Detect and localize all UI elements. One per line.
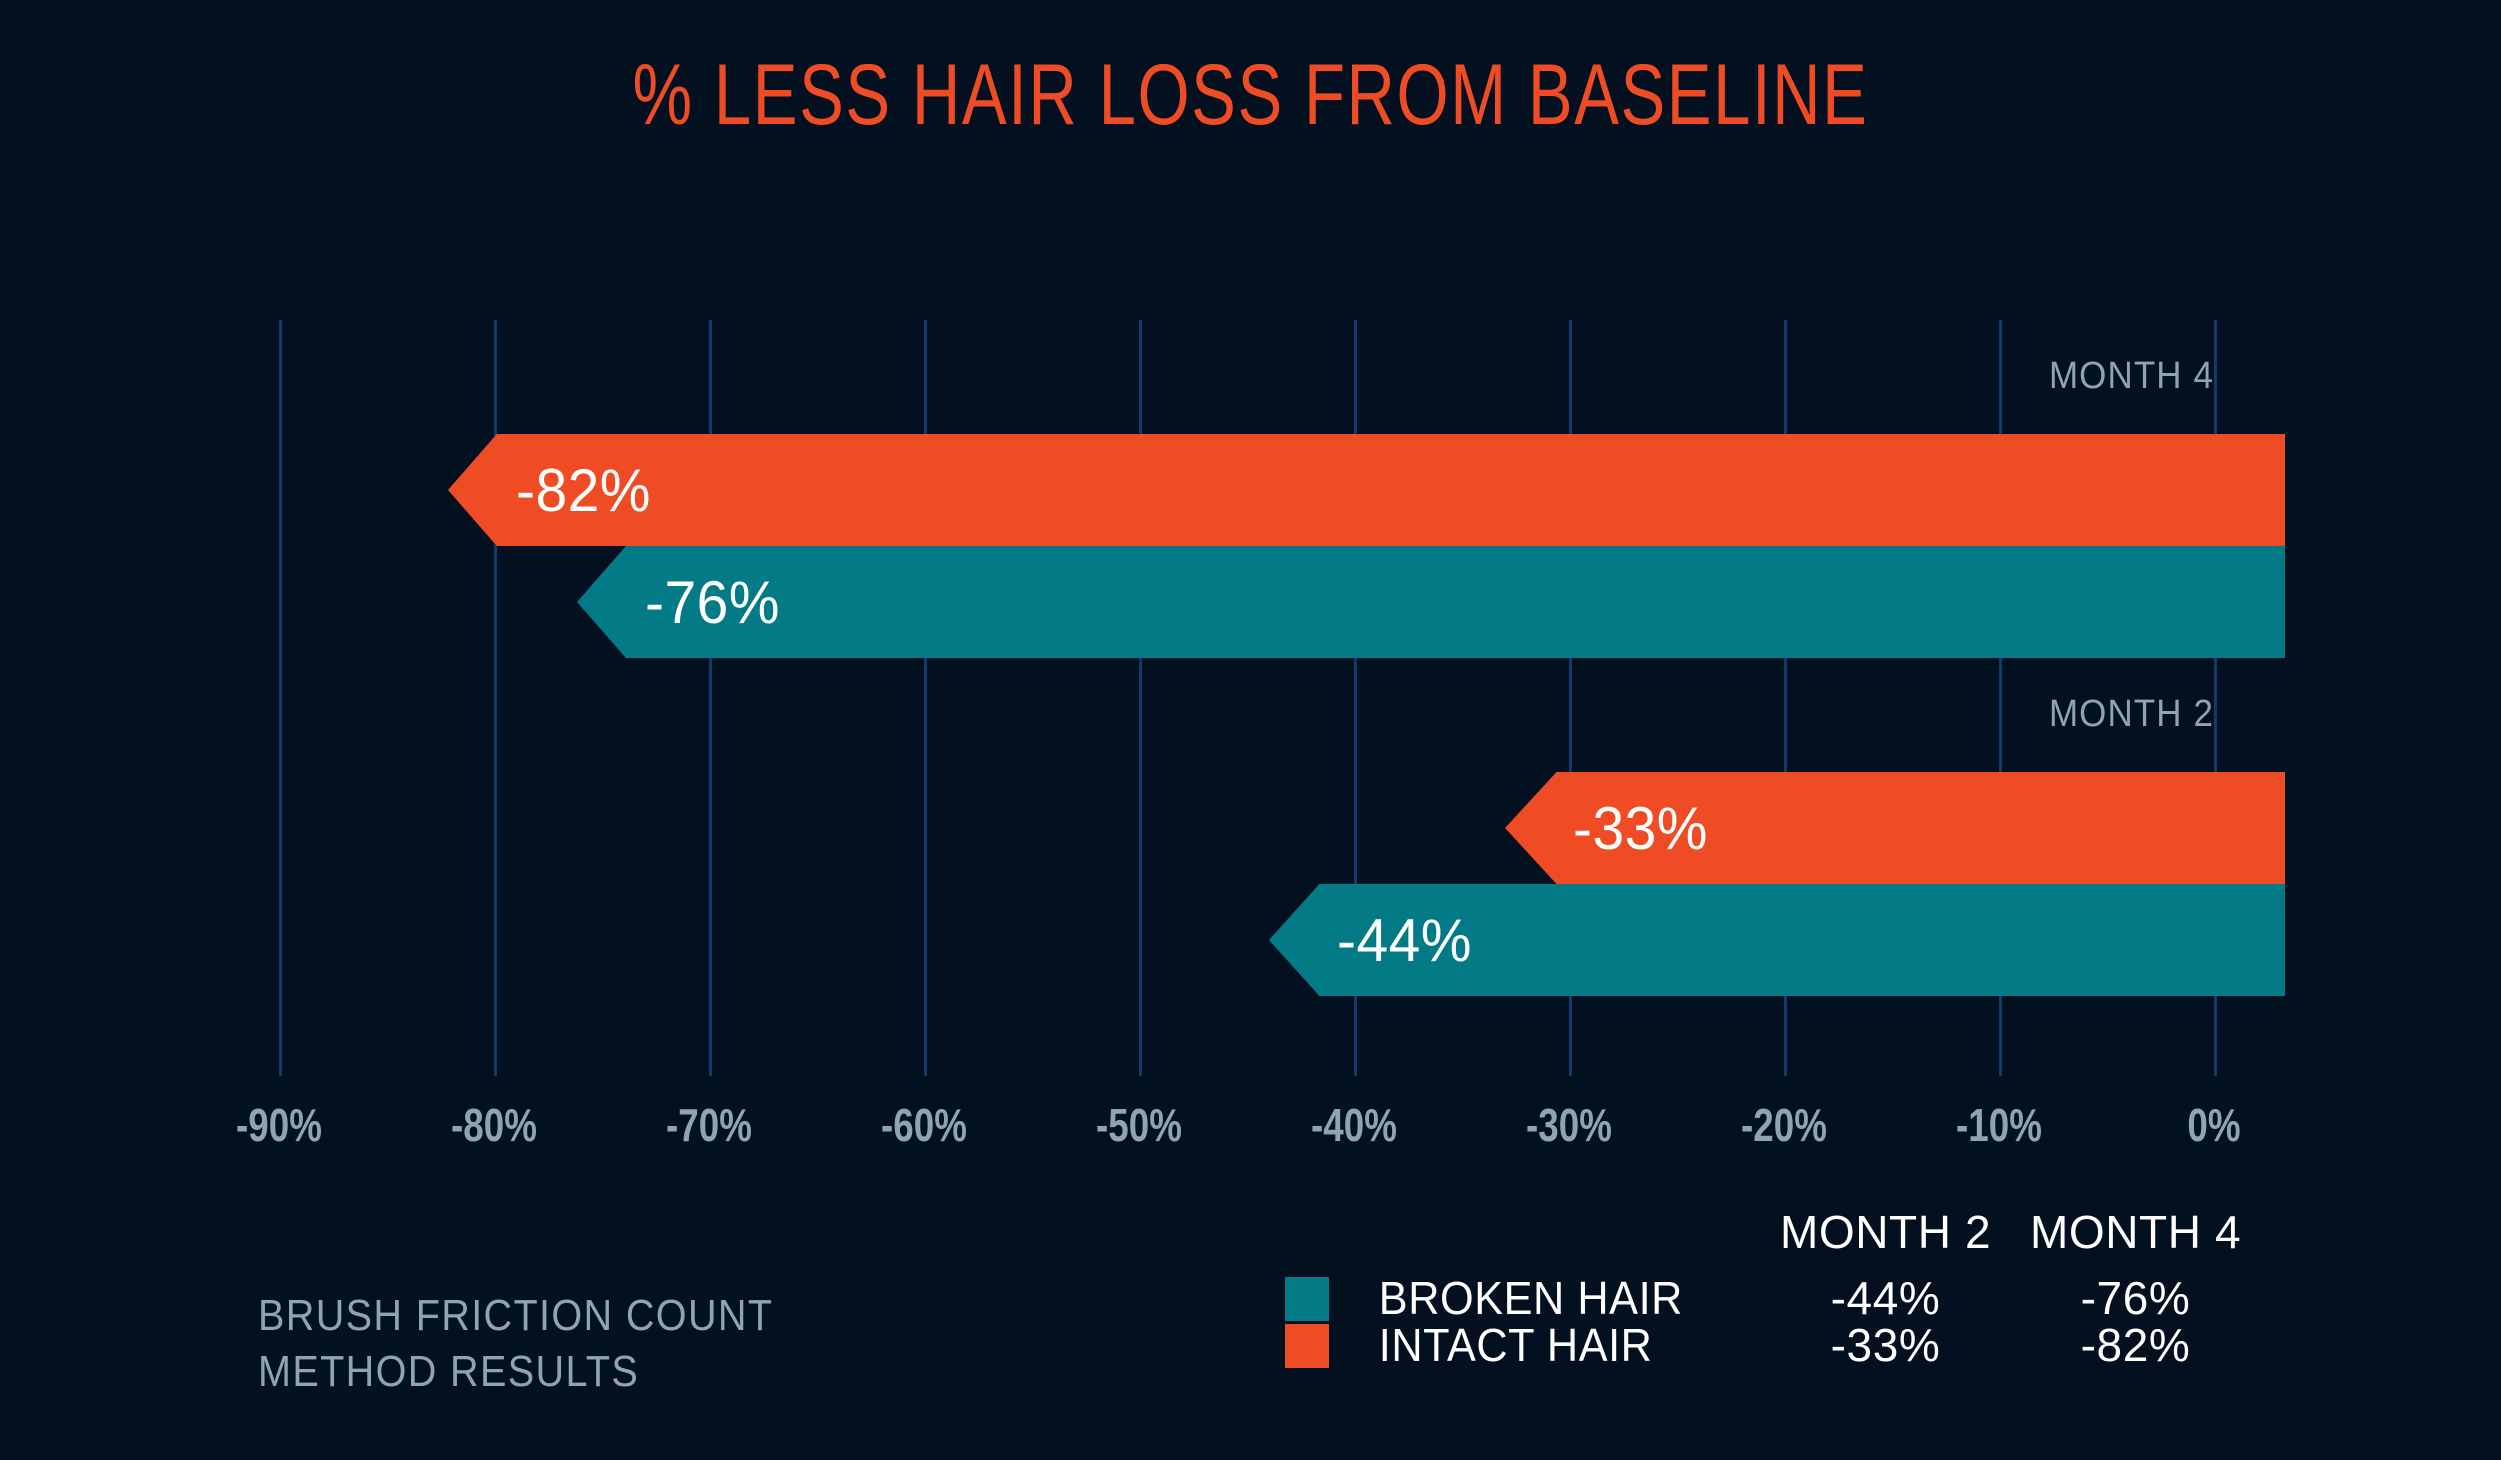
legend: MONTH 2 MONTH 4 BROKEN HAIR -44% -76% <box>1285 1205 2261 1370</box>
bar-value-label: -76% <box>645 568 780 637</box>
axis-tick-minus70: -70% <box>613 1098 805 1152</box>
legend-header-row: MONTH 2 MONTH 4 <box>1285 1205 2261 1275</box>
legend-value-broken-hair-month2: -44% <box>1761 1275 2011 1322</box>
chart-canvas: % LESS HAIR LOSS FROM BASELINE MONTH 4 -… <box>0 0 2501 1460</box>
axis-tick-minus20: -20% <box>1688 1098 1880 1152</box>
axis-tick-minus90: -90% <box>183 1098 375 1152</box>
legend-header-month4: MONTH 4 <box>2011 1205 2261 1275</box>
axis-tick-minus80: -80% <box>398 1098 590 1152</box>
caption-line-2: METHOD RESULTS <box>258 1344 773 1400</box>
group-label-month2: MONTH 2 <box>1833 693 2214 736</box>
caption-line-1: BRUSH FRICTION COUNT <box>258 1288 773 1344</box>
legend-label-broken-hair: BROKEN HAIR <box>1379 1275 1749 1322</box>
axis-tick-minus50: -50% <box>1043 1098 1235 1152</box>
bar-shape-intact <box>448 434 2285 546</box>
legend-header-month2: MONTH 2 <box>1761 1205 2011 1275</box>
plot-area: MONTH 4 -82% -76% MONTH 2 -33% -44% <box>0 0 2501 1100</box>
bar-value-label: -33% <box>1573 794 1708 863</box>
legend-swatch-intact-hair <box>1285 1322 1367 1369</box>
gridline-minus90 <box>279 320 282 1076</box>
bar-value-label: -82% <box>516 456 651 525</box>
bar-value-label: -44% <box>1337 906 1472 975</box>
bar-shape-broken <box>577 546 2285 658</box>
legend-row-intact-hair[interactable]: INTACT HAIR -33% -82% <box>1285 1322 2261 1369</box>
legend-row-broken-hair[interactable]: BROKEN HAIR -44% -76% <box>1285 1275 2261 1322</box>
color-swatch-icon <box>1285 1277 1329 1321</box>
bar-month2-intact-hair[interactable]: -33% <box>1505 772 2285 884</box>
group-label-month4: MONTH 4 <box>1833 355 2214 398</box>
axis-tick-minus10: -10% <box>1903 1098 2095 1152</box>
axis-tick-minus40: -40% <box>1258 1098 1450 1152</box>
axis-tick-zero: 0% <box>2118 1098 2310 1152</box>
legend-table: MONTH 2 MONTH 4 BROKEN HAIR -44% -76% <box>1285 1205 2261 1370</box>
bar-month4-intact-hair[interactable]: -82% <box>448 434 2285 546</box>
legend-value-intact-hair-month2: -33% <box>1761 1322 2011 1369</box>
legend-label-intact-hair: INTACT HAIR <box>1379 1322 1749 1369</box>
bar-month4-broken-hair[interactable]: -76% <box>577 546 2285 658</box>
color-swatch-icon <box>1285 1324 1329 1368</box>
legend-header-label <box>1367 1205 1761 1275</box>
legend-header-swatch <box>1285 1205 1367 1275</box>
legend-swatch-broken-hair <box>1285 1275 1367 1322</box>
legend-value-intact-hair-month4: -82% <box>2011 1322 2261 1369</box>
legend-value-broken-hair-month4: -76% <box>2011 1275 2261 1322</box>
axis-tick-minus30: -30% <box>1473 1098 1665 1152</box>
axis-tick-minus60: -60% <box>828 1098 1020 1152</box>
bar-month2-broken-hair[interactable]: -44% <box>1269 884 2285 996</box>
footer-caption: BRUSH FRICTION COUNT METHOD RESULTS <box>258 1288 773 1401</box>
